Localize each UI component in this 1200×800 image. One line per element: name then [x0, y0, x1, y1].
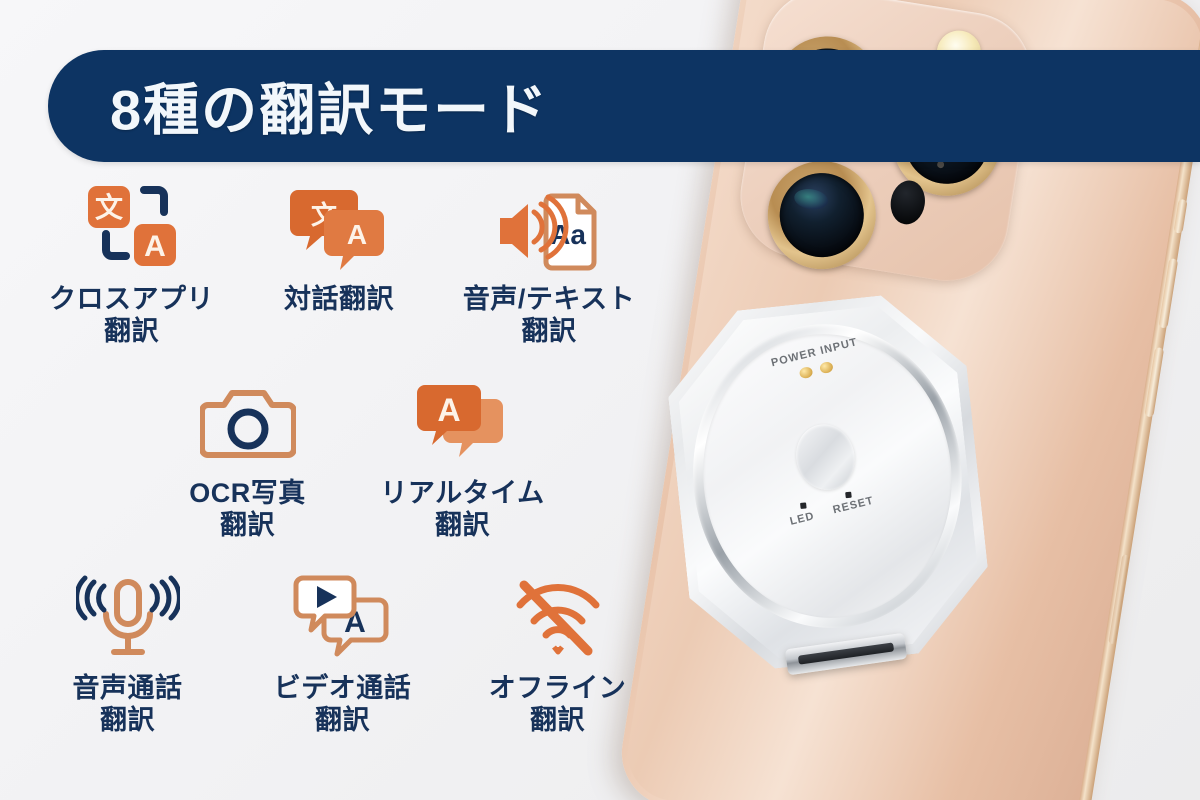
reset-pinhole-icon — [845, 492, 852, 499]
svg-text:A: A — [437, 392, 460, 428]
camera-icon — [200, 376, 296, 472]
microphone-waves-icon — [76, 571, 180, 667]
svg-text:A: A — [144, 230, 166, 263]
feature-voice-call-translate[interactable]: 音声通話 翻訳 — [20, 571, 235, 737]
feature-label: 対話翻訳 — [284, 284, 394, 316]
conversation-bubbles-icon: 文 A — [290, 182, 388, 278]
cross-app-translate-icon: 文 A — [82, 182, 182, 278]
feature-grid: 文 A クロスアプリ 翻訳 文 A — [0, 182, 690, 737]
led-indicator-icon — [800, 502, 807, 509]
wifi-off-icon — [508, 571, 608, 667]
realtime-bubble-icon: A — [417, 376, 509, 472]
feature-row: 音声通話 翻訳 A ビデオ通話 翻訳 — [0, 571, 690, 737]
feature-label: OCR写真 翻訳 — [189, 478, 306, 542]
feature-label: オフライン 翻訳 — [489, 673, 627, 737]
feature-row: OCR写真 翻訳 A リアルタイム 翻訳 — [0, 376, 690, 542]
promo-image: POWER INPUT LED RESET 8種の翻訳モード 文 — [0, 0, 1200, 800]
feature-realtime-translate[interactable]: A リアルタイム 翻訳 — [355, 376, 570, 542]
feature-voice-text-translate[interactable]: Aa 音声/テキスト 翻訳 — [439, 182, 659, 348]
page-title: 8種の翻訳モード — [110, 66, 549, 147]
svg-text:A: A — [347, 219, 367, 250]
feature-label: 音声通話 翻訳 — [73, 673, 183, 737]
feature-label: リアルタイム 翻訳 — [380, 478, 544, 542]
feature-label: クロスアプリ 翻訳 — [49, 284, 214, 348]
feature-conversation-translate[interactable]: 文 A 対話翻訳 — [239, 182, 439, 348]
feature-video-call-translate[interactable]: A ビデオ通話 翻訳 — [235, 571, 450, 737]
svg-text:文: 文 — [94, 191, 122, 224]
feature-label: ビデオ通話 翻訳 — [274, 673, 412, 737]
feature-ocr-photo-translate[interactable]: OCR写真 翻訳 — [140, 376, 355, 542]
speaker-document-icon: Aa — [494, 182, 604, 278]
translator-device: POWER INPUT LED RESET — [660, 287, 996, 676]
feature-cross-app-translate[interactable]: 文 A クロスアプリ 翻訳 — [24, 182, 239, 348]
feature-label: 音声/テキスト 翻訳 — [463, 284, 635, 348]
video-call-bubbles-icon: A — [291, 571, 395, 667]
feature-row: 文 A クロスアプリ 翻訳 文 A — [0, 182, 690, 348]
title-banner: 8種の翻訳モード — [48, 50, 1200, 162]
feature-offline-translate[interactable]: オフライン 翻訳 — [450, 571, 665, 737]
